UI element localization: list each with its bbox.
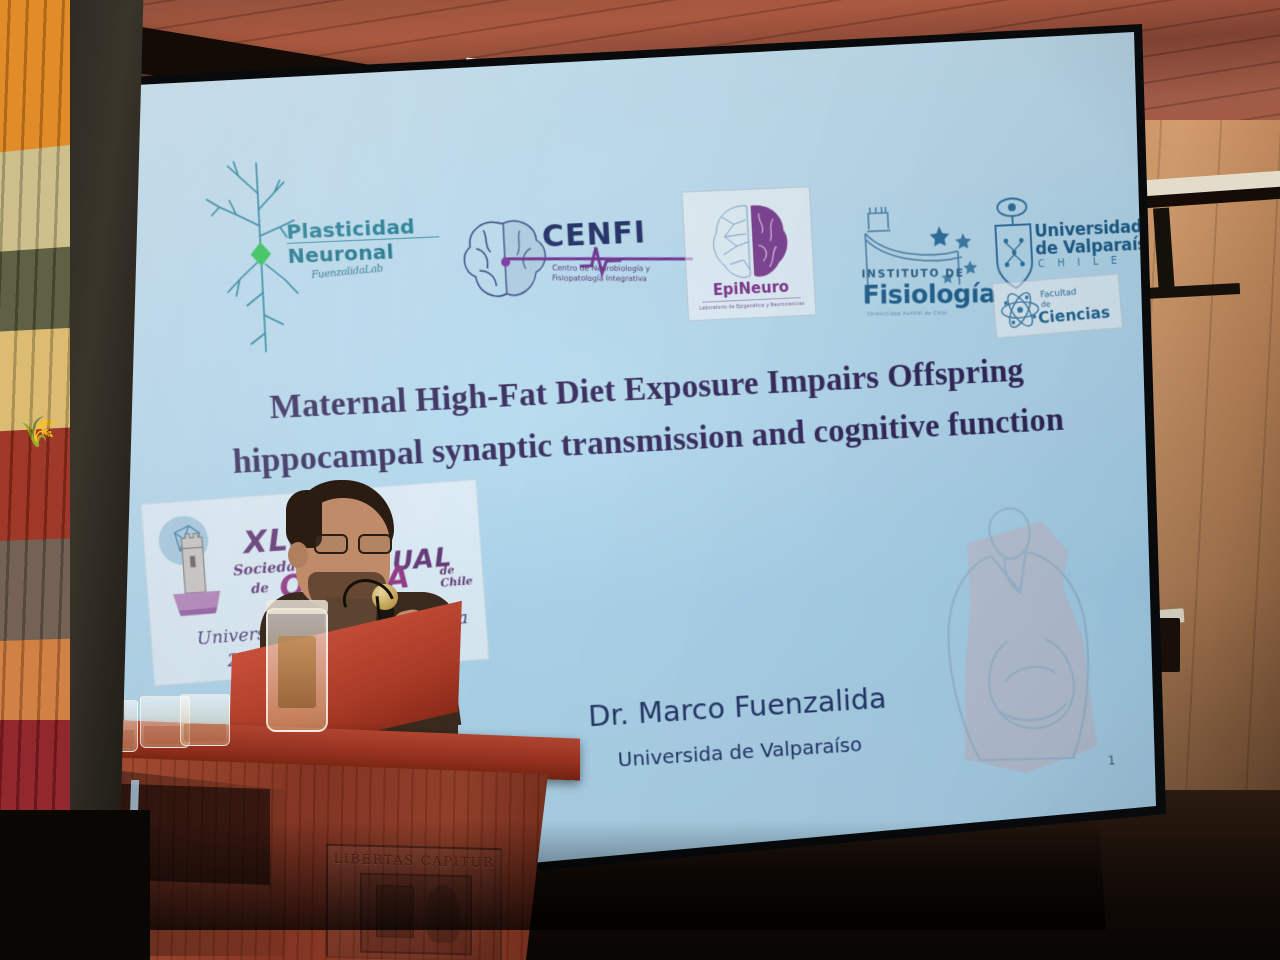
glass-jar-lid — [266, 600, 328, 614]
facultad-line1: Facultad — [1040, 288, 1077, 301]
glass-jar-label — [278, 636, 316, 708]
instituto-line2: Fisiología — [862, 280, 996, 311]
water-glass — [180, 694, 230, 746]
foreground-shadow — [96, 820, 1176, 930]
stage-left-shadow — [0, 810, 150, 960]
glasses-lens-right — [358, 534, 392, 554]
logo-facultad-de-ciencias: Facultad de Ciencias — [992, 273, 1124, 338]
speaker-glasses — [314, 534, 394, 554]
instituto-line1: INSTITUTO DE — [861, 267, 964, 281]
instituto-line3: Universidad Austral de Chile — [867, 310, 947, 317]
split-brain-icon — [707, 200, 794, 283]
slide-logo-row: Plasticidad Neuronal FuenzalidaLab — [96, 82, 1157, 379]
scene-root: Plasticidad Neuronal FuenzalidaLab — [0, 0, 1280, 960]
atom-icon — [997, 287, 1043, 334]
plasticidad-wordmark: Plasticidad Neuronal — [286, 214, 441, 267]
slide-number: 1 — [1108, 753, 1116, 767]
glasses-lens-left — [314, 534, 348, 554]
tower-book-icon — [153, 510, 243, 628]
cenfi-acronym: CENFI — [541, 215, 647, 255]
speaker-ear — [288, 542, 308, 568]
epineuro-subtitle: Laboratorio de Epigenética y Neurocienci… — [689, 301, 815, 312]
logo-plasticidad-neuronal: Plasticidad Neuronal FuenzalidaLab — [193, 168, 436, 350]
logo-epineuro: EpiNeuro Laboratorio de Epigenética y Ne… — [682, 186, 817, 321]
